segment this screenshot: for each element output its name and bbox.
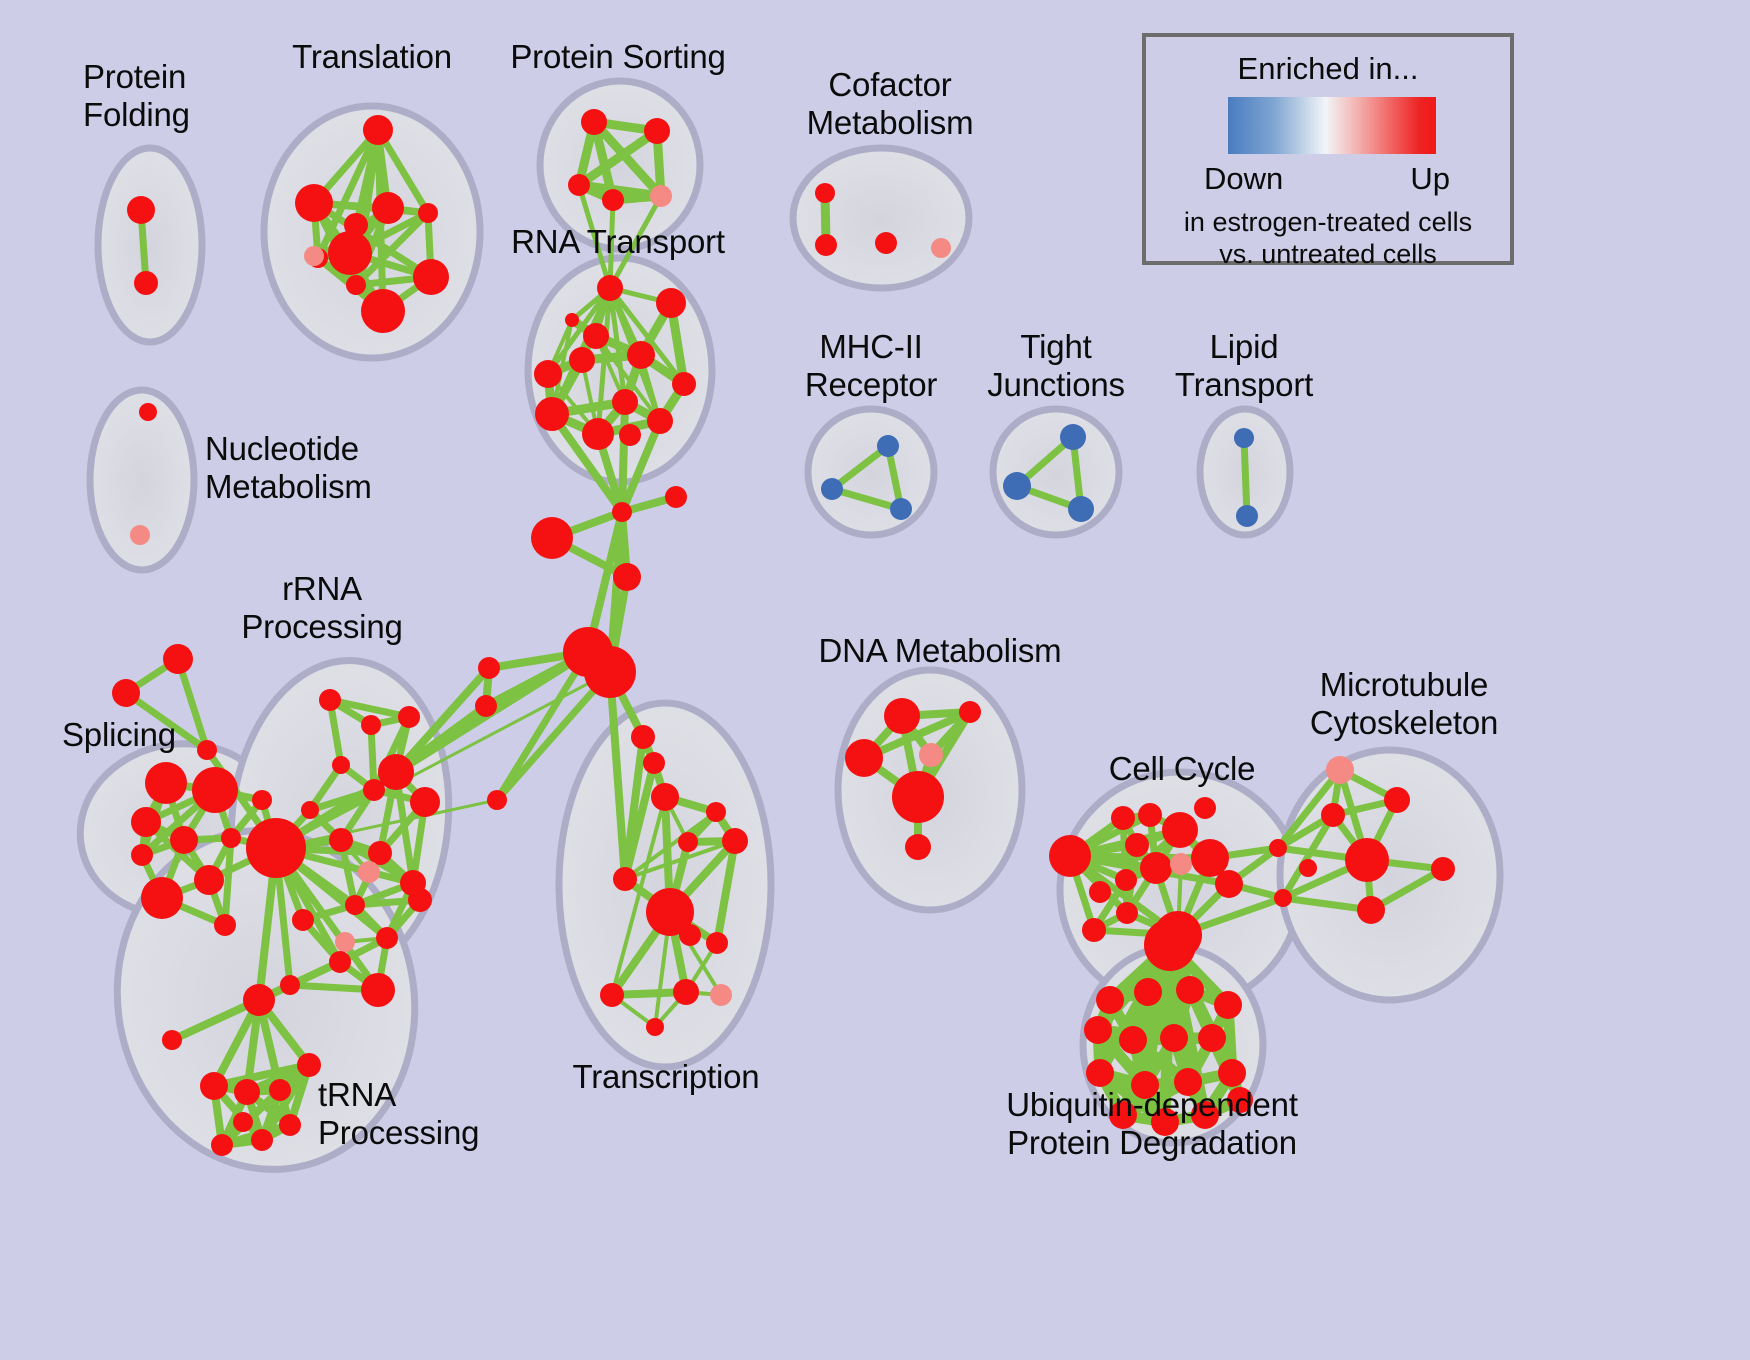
node — [673, 979, 699, 1005]
label-translation: Translation — [292, 38, 452, 76]
node — [328, 231, 372, 275]
node — [815, 234, 837, 256]
node — [892, 771, 944, 823]
node — [722, 828, 748, 854]
legend-box: Enriched in... Down Up in estrogen-treat… — [1142, 33, 1514, 265]
node — [295, 184, 333, 222]
node — [214, 914, 236, 936]
node — [221, 828, 241, 848]
node — [413, 259, 449, 295]
node — [361, 289, 405, 333]
node — [200, 1072, 228, 1100]
node — [246, 818, 306, 878]
node — [651, 783, 679, 811]
label-cofactor-metabolism: Cofactor Metabolism — [807, 66, 974, 142]
node — [131, 807, 161, 837]
node — [1115, 869, 1137, 891]
node — [408, 888, 432, 912]
node — [487, 790, 507, 810]
node — [134, 271, 158, 295]
node — [332, 756, 350, 774]
node — [877, 435, 899, 457]
node — [583, 323, 609, 349]
node — [478, 657, 500, 679]
legend-title: Enriched in... — [1146, 51, 1510, 87]
node — [319, 689, 341, 711]
node — [890, 498, 912, 520]
node — [612, 502, 632, 522]
node — [1194, 797, 1216, 819]
node — [1274, 889, 1292, 907]
node — [597, 275, 623, 301]
node — [163, 644, 193, 674]
node — [1049, 835, 1091, 877]
node — [665, 486, 687, 508]
node — [1160, 1024, 1188, 1052]
node — [131, 844, 153, 866]
node — [582, 418, 614, 450]
node — [584, 646, 636, 698]
node — [565, 313, 579, 327]
node — [643, 752, 665, 774]
node — [1134, 978, 1162, 1006]
node — [931, 238, 951, 258]
node — [1321, 803, 1345, 827]
node — [1003, 472, 1031, 500]
label-dna-metabolism: DNA Metabolism — [819, 632, 1062, 670]
node — [884, 698, 920, 734]
node — [243, 984, 275, 1016]
node — [845, 739, 883, 777]
node — [1144, 919, 1196, 971]
node — [613, 867, 637, 891]
node — [372, 192, 404, 224]
node — [398, 706, 420, 728]
node — [650, 185, 672, 207]
node — [329, 828, 353, 852]
label-tight-junctions: Tight Junctions — [987, 328, 1125, 404]
legend-high-label: Up — [1410, 161, 1450, 197]
node — [600, 983, 624, 1007]
node — [234, 1079, 260, 1105]
node — [170, 826, 198, 854]
node — [1096, 986, 1124, 1014]
cluster-hull-protein-folding — [98, 148, 202, 342]
node — [127, 196, 155, 224]
label-rrna-processing: rRNA Processing — [241, 570, 402, 646]
node — [112, 679, 140, 707]
node — [656, 288, 686, 318]
node — [1215, 870, 1243, 898]
node — [1086, 1059, 1114, 1087]
node — [194, 865, 224, 895]
node — [139, 403, 157, 421]
node — [344, 213, 368, 237]
node — [1176, 976, 1204, 1004]
node — [959, 701, 981, 723]
node — [145, 762, 187, 804]
node — [329, 951, 351, 973]
node — [410, 787, 440, 817]
node — [679, 924, 701, 946]
node — [534, 360, 562, 388]
node — [631, 725, 655, 749]
node — [269, 1079, 291, 1101]
node — [130, 525, 150, 545]
node — [612, 389, 638, 415]
node — [358, 861, 380, 883]
node — [568, 174, 590, 196]
network-figure: Protein Folding Translation Protein Sort… — [0, 0, 1750, 1360]
node — [292, 909, 314, 931]
node — [363, 115, 393, 145]
node — [531, 517, 573, 559]
node — [197, 740, 217, 760]
node — [710, 984, 732, 1006]
node — [919, 743, 943, 767]
node — [304, 246, 324, 266]
node — [1218, 1059, 1246, 1087]
node — [581, 109, 607, 135]
label-mhc-ii-receptor: MHC-II Receptor — [805, 328, 937, 404]
node — [162, 1030, 182, 1050]
node — [1170, 853, 1192, 875]
label-protein-sorting: Protein Sorting — [510, 38, 725, 76]
node — [1357, 896, 1385, 924]
node — [361, 715, 381, 735]
node — [602, 189, 624, 211]
node — [569, 347, 595, 373]
node — [706, 802, 726, 822]
node — [1198, 1024, 1226, 1052]
node — [1162, 812, 1198, 848]
node — [378, 754, 414, 790]
node — [1060, 424, 1086, 450]
node — [297, 1053, 321, 1077]
node — [672, 372, 696, 396]
node — [233, 1112, 253, 1132]
node — [647, 408, 673, 434]
node — [192, 767, 238, 813]
node — [1111, 806, 1135, 830]
node — [535, 397, 569, 431]
node — [644, 118, 670, 144]
label-rna-transport: RNA Transport — [511, 223, 725, 261]
node — [279, 1114, 301, 1136]
node — [613, 563, 641, 591]
label-protein-folding: Protein Folding — [83, 58, 190, 134]
node — [1234, 428, 1254, 448]
legend-low-label: Down — [1204, 161, 1283, 197]
node — [1138, 803, 1162, 827]
node — [1068, 496, 1094, 522]
node — [1082, 918, 1106, 942]
label-cell-cycle: Cell Cycle — [1109, 750, 1256, 788]
label-lipid-transport: Lipid Transport — [1175, 328, 1313, 404]
node — [875, 232, 897, 254]
node — [280, 975, 300, 995]
node — [706, 932, 728, 954]
legend-caption-line2: vs. untreated cells — [1146, 239, 1510, 270]
node — [418, 203, 438, 223]
node — [1119, 1026, 1147, 1054]
label-transcription: Transcription — [573, 1058, 760, 1096]
cluster-hull-cofactor-metabolism — [793, 148, 969, 288]
legend-caption-line1: in estrogen-treated cells — [1146, 207, 1510, 238]
node — [345, 895, 365, 915]
node — [821, 478, 843, 500]
legend-color-gradient-bar — [1228, 97, 1436, 154]
label-splicing: Splicing — [62, 716, 176, 754]
node — [1431, 857, 1455, 881]
node — [1345, 838, 1389, 882]
node — [141, 877, 183, 919]
node — [475, 695, 497, 717]
node — [335, 932, 355, 952]
node — [1140, 852, 1172, 884]
node — [1089, 881, 1111, 903]
node — [678, 832, 698, 852]
node — [1214, 991, 1242, 1019]
node — [251, 1129, 273, 1151]
node — [627, 341, 655, 369]
label-nucleotide-metabolism: Nucleotide Metabolism — [205, 430, 372, 506]
node — [301, 801, 319, 819]
label-microtubule-cytoskeleton: Microtubule Cytoskeleton — [1310, 666, 1498, 742]
node — [1236, 505, 1258, 527]
node — [1269, 839, 1287, 857]
cluster-hull-tight-junctions — [993, 409, 1119, 535]
node — [646, 1018, 664, 1036]
node — [1116, 902, 1138, 924]
node — [361, 973, 395, 1007]
node — [211, 1134, 233, 1156]
node — [1384, 787, 1410, 813]
node — [1084, 1016, 1112, 1044]
label-ubiquitin-degradation: Ubiquitin-dependent Protein Degradation — [1006, 1086, 1298, 1162]
node — [1326, 756, 1354, 784]
label-trna-processing: tRNA Processing — [318, 1076, 479, 1152]
cluster-hull-mhc-ii — [808, 409, 934, 535]
node — [376, 927, 398, 949]
node — [619, 424, 641, 446]
node — [905, 834, 931, 860]
node — [252, 790, 272, 810]
node — [1299, 859, 1317, 877]
node — [815, 183, 835, 203]
node — [346, 275, 366, 295]
node — [1125, 833, 1149, 857]
